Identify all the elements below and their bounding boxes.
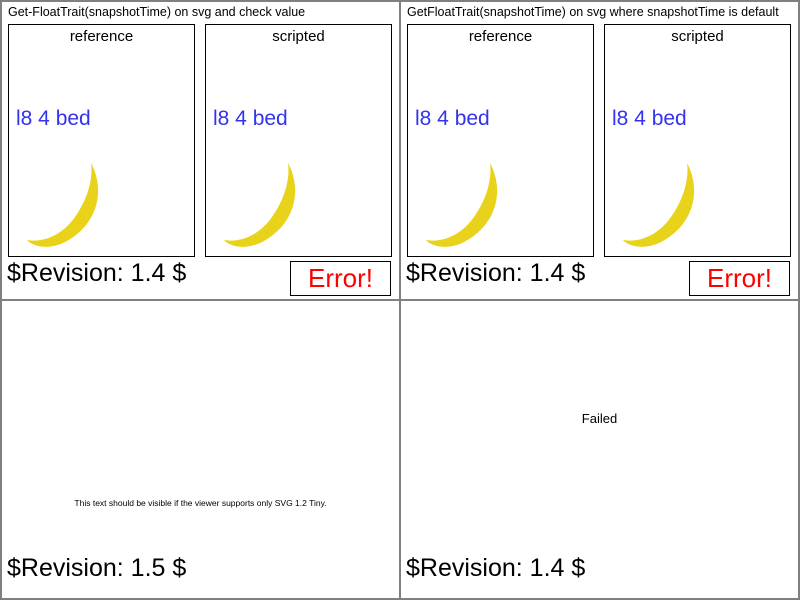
crescent-moon-icon bbox=[19, 155, 119, 255]
revision-label: $Revision: 1.5 $ bbox=[7, 553, 186, 583]
screenshot-root: Get-FloatTrait(snapshotTime) on svg and … bbox=[0, 0, 800, 600]
revision-label: $Revision: 1.4 $ bbox=[406, 553, 585, 583]
revision-label: $Revision: 1.4 $ bbox=[7, 258, 186, 288]
sample-blue-text: l8 4 bed bbox=[16, 107, 91, 131]
scripted-pane: scripted l8 4 bed bbox=[205, 24, 392, 257]
reference-pane: reference l8 4 bed bbox=[8, 24, 195, 257]
reference-pane-label: reference bbox=[9, 28, 194, 45]
test-title: Get-FloatTrait(snapshotTime) on svg and … bbox=[8, 4, 305, 20]
sample-blue-text: l8 4 bed bbox=[213, 107, 288, 131]
revision-label: $Revision: 1.4 $ bbox=[406, 258, 585, 288]
status-badge: Error! bbox=[689, 261, 790, 296]
scripted-pane-label: scripted bbox=[206, 28, 391, 45]
svg-tiny-support-note: This text should be visible if the viewe… bbox=[2, 498, 399, 508]
crescent-moon-icon bbox=[216, 155, 316, 255]
test-panel-bottom-right: Failed $Revision: 1.4 $ bbox=[401, 301, 798, 598]
test-title: GetFloatTrait(snapshotTime) on svg where… bbox=[407, 4, 779, 20]
sample-blue-text: l8 4 bed bbox=[612, 107, 687, 131]
reference-pane: reference l8 4 bed bbox=[407, 24, 594, 257]
status-badge: Error! bbox=[290, 261, 391, 296]
status-text: Failed bbox=[401, 411, 798, 426]
horizontal-divider bbox=[0, 299, 800, 301]
crescent-moon-icon bbox=[615, 155, 715, 255]
test-panel-top-right: GetFloatTrait(snapshotTime) on svg where… bbox=[401, 2, 798, 299]
crescent-moon-icon bbox=[418, 155, 518, 255]
test-panel-bottom-left: This text should be visible if the viewe… bbox=[2, 301, 399, 598]
test-panel-top-left: Get-FloatTrait(snapshotTime) on svg and … bbox=[2, 2, 399, 299]
sample-blue-text: l8 4 bed bbox=[415, 107, 490, 131]
scripted-pane: scripted l8 4 bed bbox=[604, 24, 791, 257]
scripted-pane-label: scripted bbox=[605, 28, 790, 45]
reference-pane-label: reference bbox=[408, 28, 593, 45]
